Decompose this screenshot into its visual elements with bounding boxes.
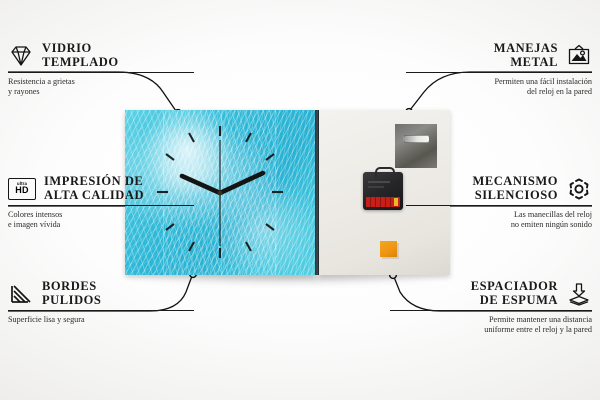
feature-title-line1: MANEJAS (494, 42, 558, 56)
feature-title-line2: METAL (494, 56, 558, 70)
foam-spacer-icon (566, 282, 592, 306)
tick-10 (166, 154, 174, 160)
feature-manejas-metal: MANEJAS METAL Permiten una fácil instala… (406, 42, 592, 97)
feature-title: ESPACIADOR DE ESPUMA (471, 280, 558, 307)
picture-hanger-icon (566, 44, 592, 68)
feature-header: MANEJAS METAL (406, 42, 592, 69)
feature-title-line1: VIDRIO (42, 42, 119, 56)
feature-vidrio-templado: VIDRIO TEMPLADO Resistencia a grietas y … (8, 42, 194, 97)
feature-desc-line1: Superficie lisa y segura (8, 315, 194, 325)
movement-hook (375, 167, 395, 178)
feature-title-line2: ALTA CALIDAD (44, 189, 144, 203)
feature-rule (8, 205, 194, 206)
tick-1 (246, 133, 251, 142)
diamond-icon (8, 44, 34, 68)
tick-7 (189, 242, 194, 251)
feature-description: Permite mantener una distancia uniforme … (390, 315, 592, 335)
ultra-hd-icon-main: HD (15, 186, 29, 195)
gear-icon (566, 177, 592, 201)
feature-desc-line2: del reloj en la pared (406, 87, 592, 97)
tick-5 (246, 242, 251, 251)
tick-4 (266, 224, 274, 230)
feature-header: BORDES PULIDOS (8, 280, 194, 307)
movement-detail-2 (368, 186, 384, 188)
movement-detail-1 (368, 181, 390, 183)
feature-title: MECANISMO SILENCIOSO (472, 175, 558, 202)
feature-description: Colores intensos e imagen vívida (8, 210, 194, 230)
feature-rule (406, 72, 592, 73)
battery-terminal (394, 198, 398, 206)
infographic-canvas: VIDRIO TEMPLADO Resistencia a grietas y … (0, 0, 600, 400)
tick-11 (189, 133, 194, 142)
feature-title-line1: ESPACIADOR (471, 280, 558, 294)
ultra-hd-icon: ultra HD (8, 178, 36, 200)
feature-description: Permiten una fácil instalación del reloj… (406, 77, 592, 97)
polished-edges-icon (8, 282, 34, 306)
feature-rule (8, 72, 194, 73)
feature-desc-line1: Las manecillas del reloj (406, 210, 592, 220)
hand-cap (218, 191, 223, 196)
feature-desc-line1: Resistencia a grietas (8, 77, 194, 87)
feature-title-line2: DE ESPUMA (471, 294, 558, 308)
quartz-movement (363, 172, 403, 210)
metal-hanger-plate (395, 124, 437, 168)
feature-header: ultra HD IMPRESIÓN DE ALTA CALIDAD (8, 175, 194, 202)
feature-description: Resistencia a grietas y rayones (8, 77, 194, 97)
feature-description: Las manecillas del reloj no emiten ningú… (406, 210, 592, 230)
feature-bordes-pulidos: BORDES PULIDOS Superficie lisa y segura (8, 280, 194, 325)
minute-hand (220, 173, 263, 193)
feature-desc-line2: no emiten ningún sonido (406, 220, 592, 230)
foam-spacer (380, 241, 397, 257)
feature-desc-line1: Permite mantener una distancia (390, 315, 592, 325)
feature-title-line1: BORDES (42, 280, 101, 294)
feature-desc-line1: Colores intensos (8, 210, 194, 220)
feature-title-line1: MECANISMO (472, 175, 558, 189)
feature-title-line2: TEMPLADO (42, 56, 119, 70)
feature-rule (8, 310, 194, 311)
feature-title-line2: PULIDOS (42, 294, 101, 308)
feature-title: IMPRESIÓN DE ALTA CALIDAD (44, 175, 144, 202)
feature-header: VIDRIO TEMPLADO (8, 42, 194, 69)
feature-rule (406, 205, 592, 206)
feature-description: Superficie lisa y segura (8, 315, 194, 325)
feature-title: MANEJAS METAL (494, 42, 558, 69)
feature-title-line1: IMPRESIÓN DE (44, 175, 144, 189)
feature-header: MECANISMO SILENCIOSO (406, 175, 592, 202)
feature-desc-line2: e imagen vívida (8, 220, 194, 230)
feature-impresion-alta-calidad: ultra HD IMPRESIÓN DE ALTA CALIDAD Color… (8, 175, 194, 230)
feature-desc-line1: Permiten una fácil instalación (406, 77, 592, 87)
feature-desc-line2: y rayones (8, 87, 194, 97)
feature-title-line2: SILENCIOSO (472, 189, 558, 203)
hanger-slot (403, 135, 430, 143)
feature-espaciador-espuma: ESPACIADOR DE ESPUMA Permite mantener un… (390, 280, 592, 335)
feature-header: ESPACIADOR DE ESPUMA (390, 280, 592, 307)
tick-2 (266, 154, 274, 160)
feature-mecanismo-silencioso: MECANISMO SILENCIOSO Las manecillas del … (406, 175, 592, 230)
feature-desc-line2: uniforme entre el reloj y la pared (390, 325, 592, 335)
feature-rule (390, 310, 592, 311)
battery (366, 197, 400, 207)
feature-title: VIDRIO TEMPLADO (42, 42, 119, 69)
feature-title: BORDES PULIDOS (42, 280, 101, 307)
